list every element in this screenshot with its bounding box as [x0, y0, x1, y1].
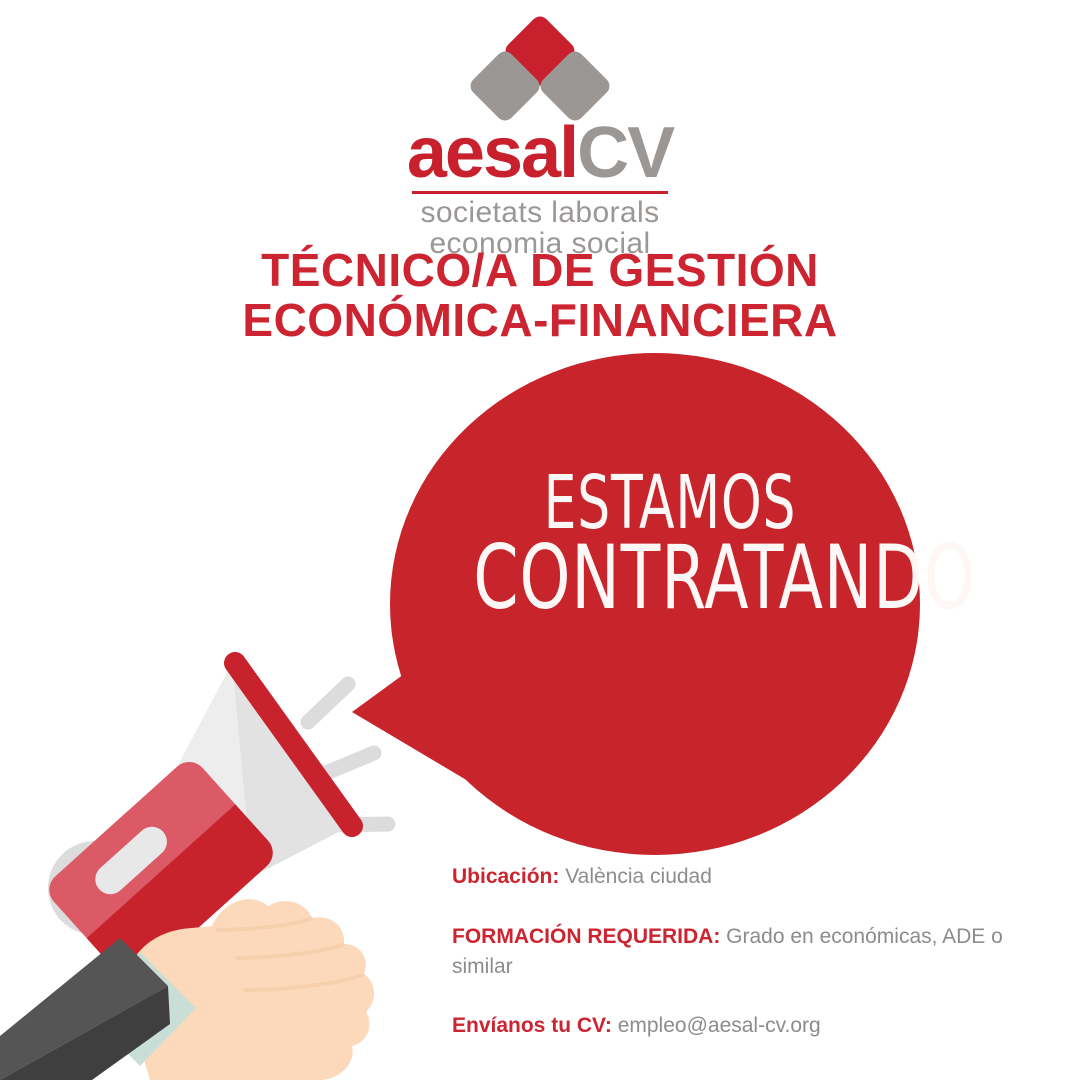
bubble-headline: ESTAMOS CONTRATANDO — [430, 468, 910, 620]
job-posting-poster: aesalCV societats laborals economia soci… — [0, 0, 1080, 1080]
megaphone-body-light — [42, 755, 280, 988]
megaphone-body — [42, 755, 280, 988]
detail-label-formacion: FORMACIÓN REQUERIDA: — [452, 925, 720, 948]
megaphone-cone-upper — [150, 663, 252, 877]
sound-wave-icon — [308, 684, 388, 825]
logo-word-aesal: aesal — [407, 113, 577, 193]
megaphone-shadow-blob — [214, 964, 262, 1012]
brand-logo: aesalCV societats laborals economia soci… — [0, 22, 1080, 260]
logo-tagline-line-1: societats laborals — [0, 198, 1080, 229]
job-details-list: Ubicación: València ciudad FORMACIÓN REQ… — [452, 862, 1012, 1041]
detail-label-ubicacion: Ubicación: — [452, 865, 559, 888]
megaphone-cone-outline — [150, 663, 350, 877]
megaphone-cone-lower — [232, 663, 350, 877]
bubble-headline-line-2: CONTRATANDO — [473, 536, 867, 620]
hand-finger-lines — [216, 918, 364, 990]
detail-label-envianos: Envíanos tu CV: — [452, 1014, 612, 1037]
detail-row-envianos: Envíanos tu CV: empleo@aesal-cv.org — [452, 1011, 1012, 1041]
suit-sleeve-light — [0, 938, 168, 1080]
megaphone-back-cap — [48, 841, 142, 935]
hand-fist — [125, 899, 374, 1080]
shirt-cuff — [84, 952, 196, 1066]
page-title-line-2: ECONÓMICA-FINANCIERA — [0, 296, 1080, 346]
megaphone-neck — [150, 825, 225, 900]
detail-row-ubicacion: Ubicación: València ciudad — [452, 862, 1012, 892]
page-title: TÉCNICO/A DE GESTIÓN ECONÓMICA-FINANCIER… — [0, 246, 1080, 345]
suit-sleeve-dark — [0, 986, 170, 1080]
megaphone-rim — [235, 663, 352, 826]
speech-bubble-tail — [352, 620, 500, 800]
speech-bubble — [390, 353, 920, 855]
detail-value-email[interactable]: empleo@aesal-cv.org — [618, 1014, 821, 1037]
megaphone-handle-slot — [89, 821, 173, 901]
detail-row-formacion: FORMACIÓN REQUERIDA: Grado en económicas… — [452, 922, 1012, 982]
logo-diamonds-icon — [460, 22, 620, 118]
page-title-line-1: TÉCNICO/A DE GESTIÓN — [0, 246, 1080, 296]
megaphone-body-dark — [87, 804, 280, 988]
detail-value-ubicacion: València ciudad — [565, 865, 712, 888]
logo-wordmark: aesalCV — [0, 120, 1080, 186]
bubble-headline-line-1: ESTAMOS — [483, 468, 857, 540]
logo-word-cv: CV — [577, 113, 673, 193]
